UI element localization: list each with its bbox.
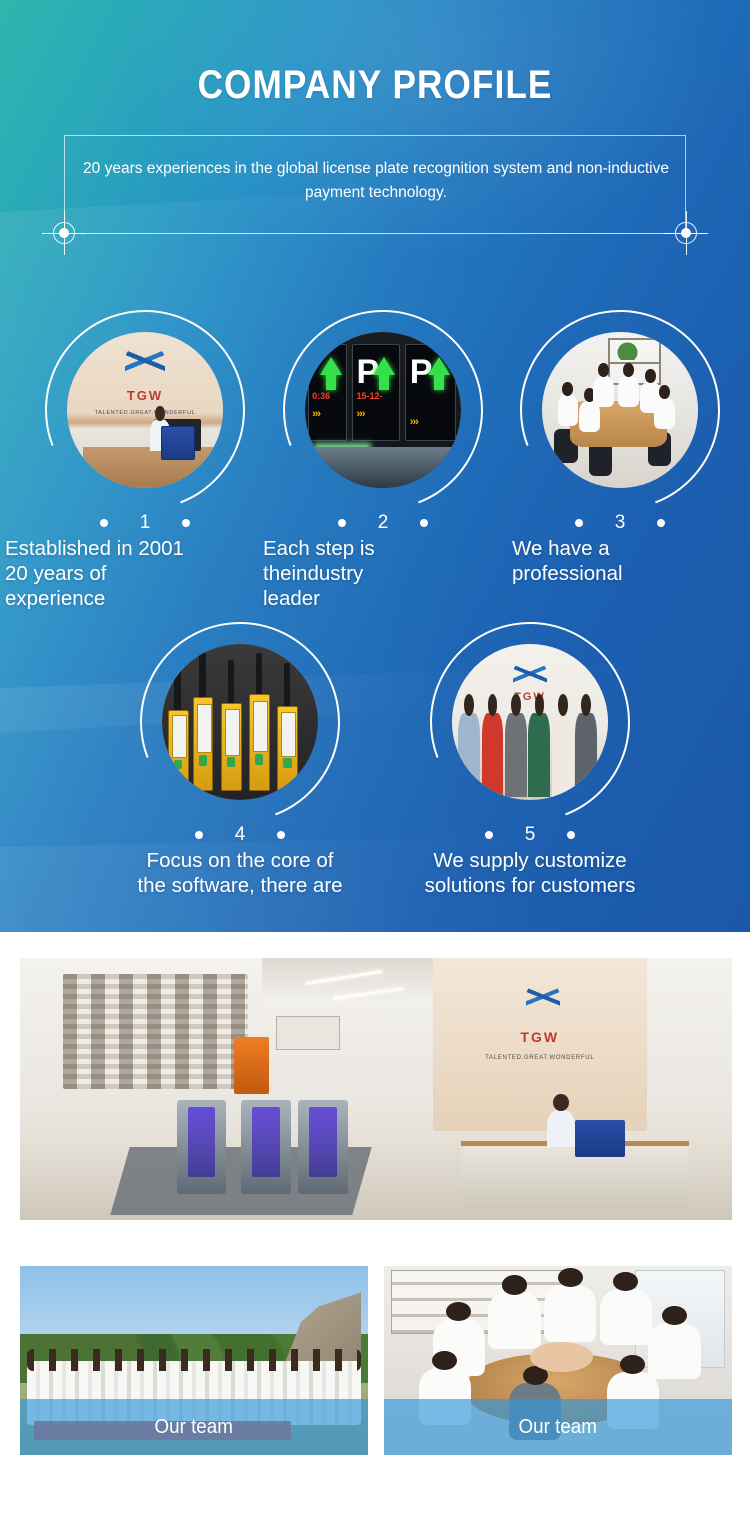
- hero-section: COMPANY PROFILE 20 years experiences in …: [0, 0, 750, 932]
- tgw-logo-icon: [513, 660, 547, 688]
- feature-ring-4: [140, 622, 340, 822]
- feature-number-4: 4: [140, 824, 340, 846]
- page-title: COMPANY PROFILE: [45, 63, 705, 108]
- crosshair-marker-right-icon: [664, 211, 708, 255]
- feature-caption-4: Focus on the core of the software, there…: [90, 848, 390, 898]
- tgw-brand-text: TGW: [67, 388, 223, 403]
- feature-badge-3[interactable]: 3 We have a professional: [520, 310, 720, 510]
- feature-photo-1: TGW TALENTED.GREAT.WONDERFUL: [67, 332, 223, 488]
- feature-photo-4: [162, 644, 318, 800]
- feature-photo-5: TGW: [452, 644, 608, 800]
- team-caption-bar-1: Our team: [20, 1399, 368, 1455]
- feature-caption-1: Established in 2001 20 years of experien…: [5, 536, 305, 611]
- team-caption-bar-2: Our team: [384, 1399, 732, 1455]
- team-photo-card-1[interactable]: Our team: [20, 1266, 368, 1455]
- tgw-brand-text: TGW: [433, 1029, 647, 1045]
- feature-badge-2[interactable]: 0:36››› P15-12-››› P››› 2 Each step is t…: [283, 310, 483, 510]
- feature-caption-5: We supply customize solutions for custom…: [380, 848, 680, 898]
- feature-number-2: 2: [283, 512, 483, 534]
- led-code-text: 15-12-: [357, 391, 383, 401]
- feature-ring-3: [520, 310, 720, 510]
- feature-ring-5: TGW: [430, 622, 630, 822]
- feature-ring-1: TGW TALENTED.GREAT.WONDERFUL: [45, 310, 245, 510]
- feature-ring-2: 0:36››› P15-12-››› P›››: [283, 310, 483, 510]
- team-caption-text-2: Our team: [519, 1416, 597, 1439]
- tgw-logo-icon: [526, 982, 560, 1012]
- team-caption-text-1: Our team: [155, 1416, 233, 1439]
- tgw-logo-icon: [125, 344, 165, 378]
- showroom-photo[interactable]: TGW TALENTED.GREAT.WONDERFUL: [20, 958, 732, 1220]
- feature-badge-1[interactable]: TGW TALENTED.GREAT.WONDERFUL 1 Establish…: [45, 310, 245, 510]
- led-timer-text: 0:36: [312, 391, 330, 401]
- feature-badge-4[interactable]: 4 Focus on the core of the software, the…: [140, 622, 340, 822]
- tagline-text: 20 years experiences in the global licen…: [76, 157, 676, 205]
- tgw-slogan-text: TALENTED.GREAT.WONDERFUL: [433, 1055, 647, 1061]
- crosshair-marker-left-icon: [42, 211, 86, 255]
- team-photo-card-2[interactable]: Our team: [384, 1266, 732, 1455]
- tagline-rule: [64, 233, 686, 234]
- feature-caption-3: We have a professional: [512, 536, 750, 586]
- feature-number-1: 1: [45, 512, 245, 534]
- feature-photo-2: 0:36››› P15-12-››› P›››: [305, 332, 461, 488]
- feature-photo-3: [542, 332, 698, 488]
- feature-number-5: 5: [430, 824, 630, 846]
- feature-number-3: 3: [520, 512, 720, 534]
- feature-badge-5[interactable]: TGW 5 We supply customize solutions for …: [430, 622, 630, 822]
- license-plate-wall: [63, 974, 248, 1089]
- company-profile-page: COMPANY PROFILE 20 years experiences in …: [0, 0, 750, 1517]
- tgw-slogan-text: TALENTED.GREAT.WONDERFUL: [67, 410, 223, 416]
